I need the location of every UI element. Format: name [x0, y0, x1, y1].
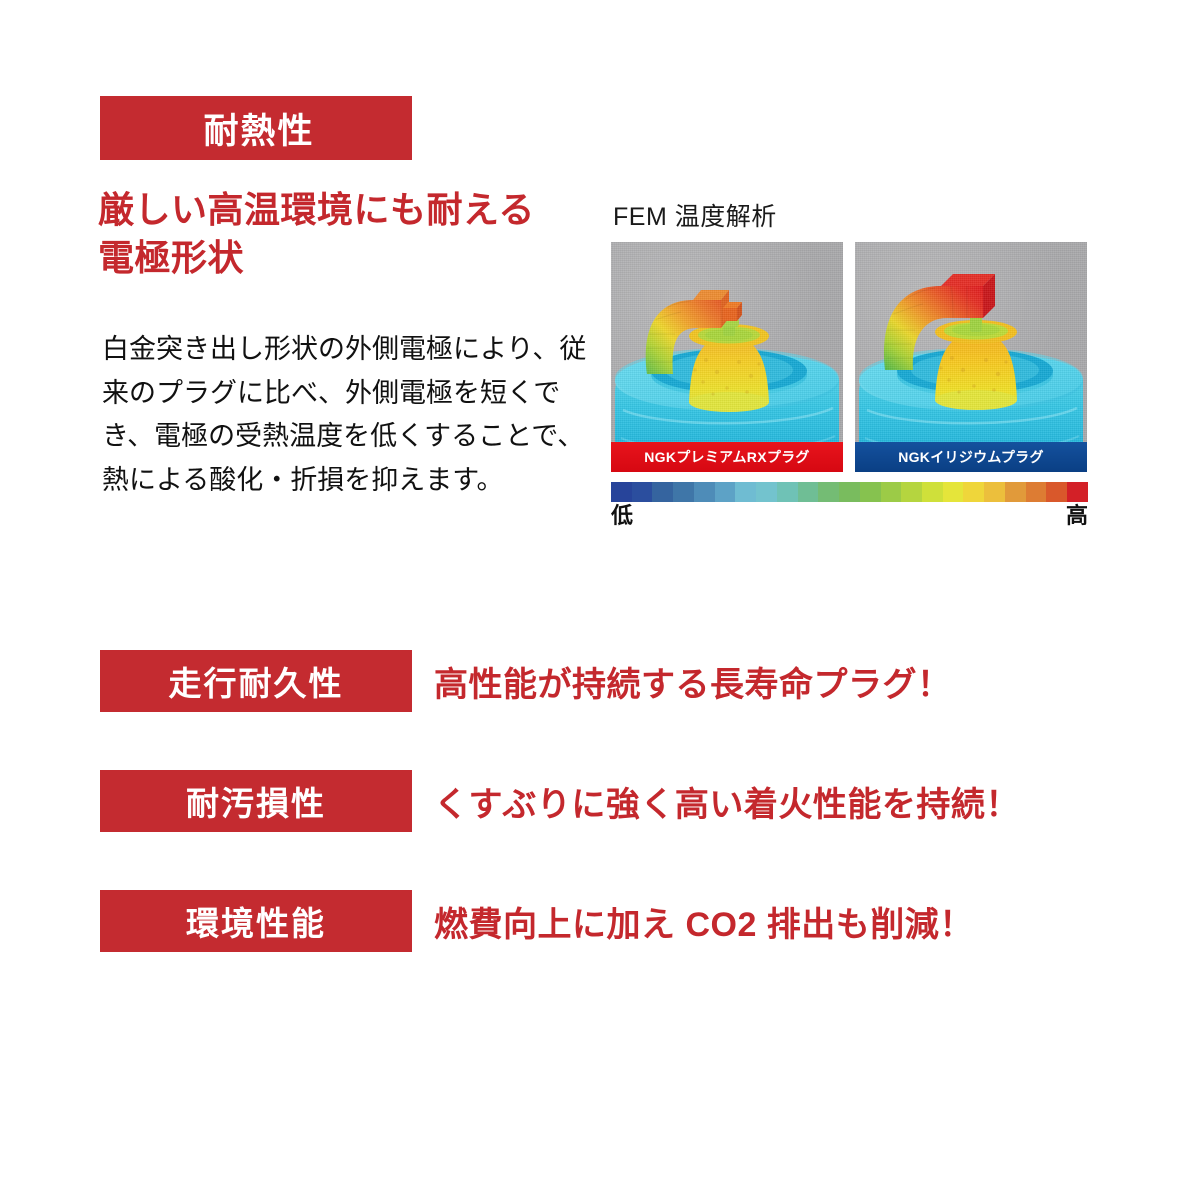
scale-segment-3 — [673, 482, 694, 502]
temperature-scale-labels: 低 高 — [611, 504, 1088, 528]
heat-resistance-badge: 耐熱性 — [100, 96, 412, 160]
temperature-scale: 低 高 — [611, 482, 1088, 528]
fem-panel-caption-rx: NGKプレミアムRXプラグ — [611, 442, 843, 472]
fem-analysis-block: FEM 温度解析 — [611, 200, 1091, 528]
feature-text-durability: 高性能が持続する長寿命プラグ！ — [434, 657, 952, 706]
heat-resistance-headline: 厳しい高温環境にも耐える電極形状 — [98, 186, 578, 282]
fem-title: FEM 温度解析 — [613, 200, 1091, 234]
fem-panel-rx: NGKプレミアムRXプラグ — [611, 242, 843, 472]
scale-segment-11 — [839, 482, 860, 502]
scale-segment-14 — [901, 482, 922, 502]
scale-segment-6 — [735, 482, 756, 502]
feature-text-fouling: くすぶりに強く高い着火性能を持続！ — [434, 777, 1020, 826]
feature-badge-durability: 走行耐久性 — [100, 650, 412, 712]
scale-segment-2 — [652, 482, 673, 502]
scale-segment-17 — [963, 482, 984, 502]
scale-segment-7 — [756, 482, 777, 502]
scale-segment-12 — [860, 482, 881, 502]
fem-panel-iridium: NGKイリジウムプラグ — [855, 242, 1087, 472]
feature-row-durability: 走行耐久性 高性能が持続する長寿命プラグ！ — [100, 650, 1050, 712]
spark-plug-rx-thermal-render — [611, 242, 843, 472]
scale-segment-22 — [1067, 482, 1088, 502]
scale-segment-19 — [1005, 482, 1026, 502]
scale-segment-4 — [694, 482, 715, 502]
fem-panel-caption-iridium: NGKイリジウムプラグ — [855, 442, 1087, 472]
scale-segment-16 — [943, 482, 964, 502]
scale-segment-20 — [1026, 482, 1047, 502]
scale-label-high: 高 — [1066, 504, 1088, 528]
spark-plug-iridium-thermal-render — [855, 242, 1087, 472]
scale-segment-8 — [777, 482, 798, 502]
fem-panel-group: NGKプレミアムRXプラグ — [611, 242, 1091, 472]
feature-row-environment: 環境性能 燃費向上に加え CO2 排出も削減！ — [100, 890, 1050, 952]
scale-segment-21 — [1046, 482, 1067, 502]
feature-text-environment: 燃費向上に加え CO2 排出も削減！ — [434, 897, 974, 946]
scale-segment-5 — [715, 482, 736, 502]
scale-segment-15 — [922, 482, 943, 502]
feature-row-fouling: 耐汚損性 くすぶりに強く高い着火性能を持続！ — [100, 770, 1050, 832]
heat-resistance-body: 白金突き出し形状の外側電極により、従来のプラグに比べ、外側電極を短くでき、電極の… — [102, 328, 590, 503]
feature-badge-fouling: 耐汚損性 — [100, 770, 412, 832]
temperature-scale-bar — [611, 482, 1088, 502]
feature-badge-environment: 環境性能 — [100, 890, 412, 952]
scale-segment-10 — [818, 482, 839, 502]
scale-segment-13 — [881, 482, 902, 502]
scale-segment-1 — [632, 482, 653, 502]
scale-segment-0 — [611, 482, 632, 502]
scale-segment-18 — [984, 482, 1005, 502]
scale-segment-9 — [798, 482, 819, 502]
scale-label-low: 低 — [611, 504, 633, 528]
